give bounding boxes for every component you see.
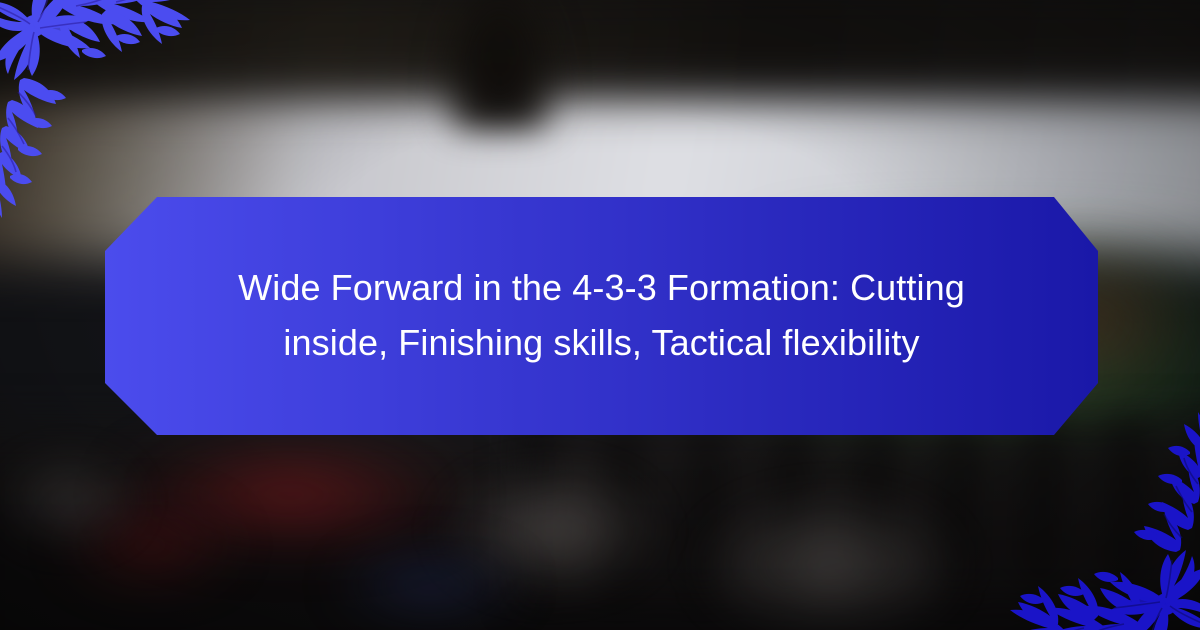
title-banner: Wide Forward in the 4-3-3 Formation: Cut…: [105, 197, 1098, 435]
page-title: Wide Forward in the 4-3-3 Formation: Cut…: [207, 261, 997, 370]
